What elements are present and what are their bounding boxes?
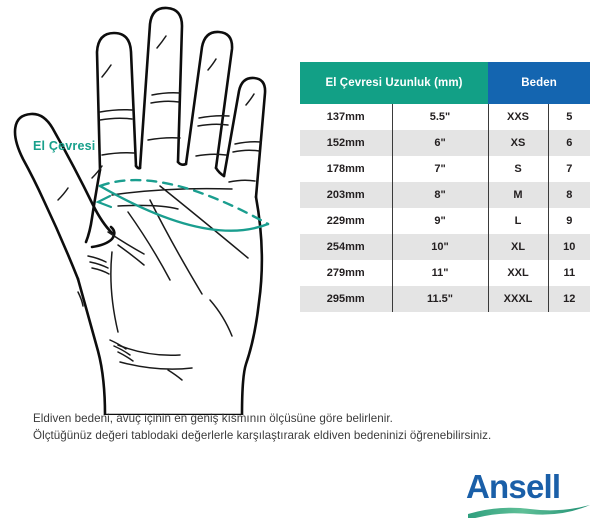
cell-mm: 152mm (300, 130, 392, 156)
cell-size: M (488, 182, 548, 208)
cell-number: 7 (548, 156, 590, 182)
table-row: 229mm 9" L 9 (300, 208, 590, 234)
ansell-logo-swoosh-icon (466, 504, 592, 518)
cell-inch: 9" (392, 208, 488, 234)
circumference-arrow-head (98, 196, 111, 207)
ansell-logo-text: Ansell (466, 470, 592, 504)
cell-mm: 178mm (300, 156, 392, 182)
cell-size: XL (488, 234, 548, 260)
ansell-logo: Ansell (466, 470, 592, 518)
cell-inch: 11" (392, 260, 488, 286)
cell-inch: 8" (392, 182, 488, 208)
cell-inch: 11.5" (392, 286, 488, 312)
open-palm-hand-diagram (0, 0, 300, 415)
cell-mm: 295mm (300, 286, 392, 312)
instructions-line-1: Eldiven bedeni, avuç içinin en geniş kıs… (33, 411, 578, 428)
cell-number: 10 (548, 234, 590, 260)
instructions-text: Eldiven bedeni, avuç içinin en geniş kıs… (33, 411, 578, 444)
table-body: 137mm 5.5" XXS 5 152mm 6" XS 6 178mm 7" … (300, 104, 590, 312)
cell-number: 6 (548, 130, 590, 156)
cell-mm: 203mm (300, 182, 392, 208)
cell-size: S (488, 156, 548, 182)
table-header: El Çevresi Uzunluk (mm) Beden (300, 62, 590, 104)
hand-circumference-label: El Çevresi (33, 139, 95, 153)
table-row: 295mm 11.5" XXXL 12 (300, 286, 590, 312)
table-row: 178mm 7" S 7 (300, 156, 590, 182)
table-row: 203mm 8" M 8 (300, 182, 590, 208)
cell-number: 9 (548, 208, 590, 234)
instructions-line-2: Ölçtüğünüz değeri tablodaki değerlerle k… (33, 428, 578, 445)
cell-number: 12 (548, 286, 590, 312)
cell-mm: 279mm (300, 260, 392, 286)
cell-number: 11 (548, 260, 590, 286)
table-row: 137mm 5.5" XXS 5 (300, 104, 590, 130)
cell-number: 5 (548, 104, 590, 130)
cell-size: XS (488, 130, 548, 156)
table-row: 279mm 11" XXL 11 (300, 260, 590, 286)
header-hand-circumference: El Çevresi Uzunluk (mm) (300, 62, 488, 104)
cell-size: XXXL (488, 286, 548, 312)
cell-size: XXL (488, 260, 548, 286)
cell-mm: 254mm (300, 234, 392, 260)
glove-size-chart-page: El Çevresi El Çevresi Uzunluk (mm) Beden… (0, 0, 600, 526)
cell-number: 8 (548, 182, 590, 208)
header-size: Beden (488, 62, 590, 104)
cell-size: L (488, 208, 548, 234)
cell-mm: 229mm (300, 208, 392, 234)
table-row: 152mm 6" XS 6 (300, 130, 590, 156)
glove-size-table: El Çevresi Uzunluk (mm) Beden 137mm 5.5"… (300, 62, 590, 312)
cell-inch: 6" (392, 130, 488, 156)
hand-circumference-dashed-arc (100, 180, 268, 224)
cell-inch: 7" (392, 156, 488, 182)
cell-inch: 5.5" (392, 104, 488, 130)
table-row: 254mm 10" XL 10 (300, 234, 590, 260)
cell-mm: 137mm (300, 104, 392, 130)
cell-inch: 10" (392, 234, 488, 260)
cell-size: XXS (488, 104, 548, 130)
